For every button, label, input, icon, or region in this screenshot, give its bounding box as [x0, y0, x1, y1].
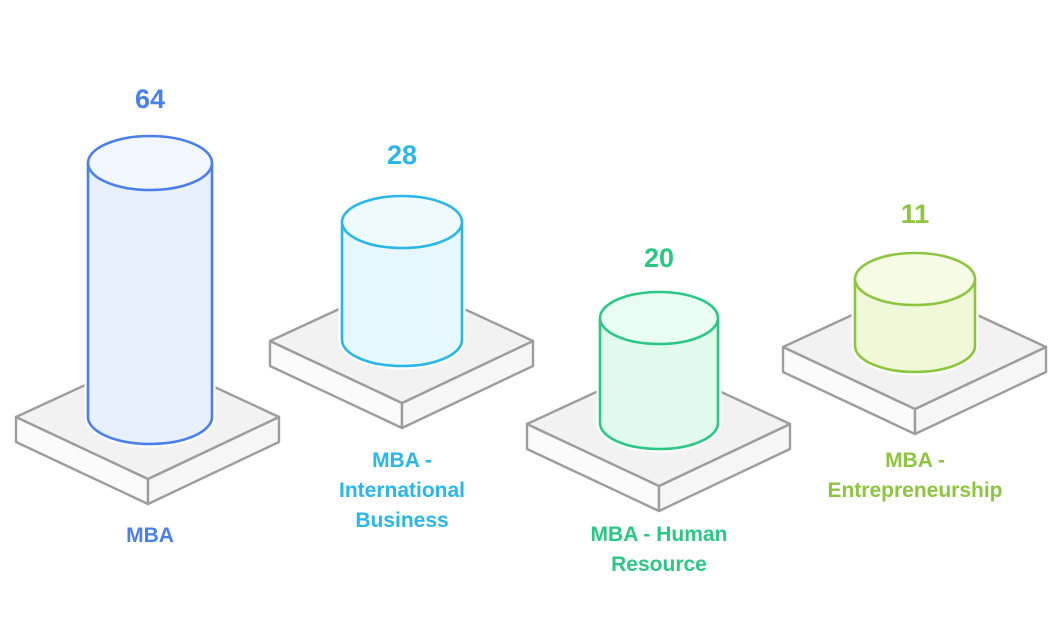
bar-label-line-2-1: Resource: [611, 553, 707, 576]
bar-label-line-1-2: Business: [355, 509, 448, 532]
bar-value-1: 28: [387, 140, 417, 170]
bar-label-line-2-0: MBA - Human: [591, 523, 728, 546]
chart-bar-group-0[interactable]: 64 MBA: [16, 84, 279, 547]
chart-bar-group-3[interactable]: 11 MBA - Entrepreneurship: [783, 199, 1046, 502]
cylinder-top-3: [855, 253, 975, 305]
cylinder-top-0: [88, 136, 212, 190]
cylinder-0[interactable]: [88, 136, 212, 444]
bar-label-line-0-0: MBA: [126, 524, 174, 547]
bar-label-line-1-0: MBA -: [372, 449, 432, 472]
chart-bar-group-1[interactable]: 28 MBA - International Business: [270, 140, 533, 532]
bar-label-0: MBA: [126, 524, 174, 547]
bar-label-3: MBA - Entrepreneurship: [827, 449, 1002, 502]
chart-bar-group-2[interactable]: 20 MBA - Human Resource: [527, 243, 790, 576]
bar-label-line-3-1: Entrepreneurship: [827, 479, 1002, 502]
bar-value-3: 11: [901, 199, 930, 229]
cylinder-2[interactable]: [600, 292, 718, 449]
cylinder-1[interactable]: [342, 196, 462, 366]
bar-value-2: 20: [644, 243, 674, 273]
cylinder-top-1: [342, 196, 462, 248]
cylinder-top-2: [600, 292, 718, 344]
cylinder-3[interactable]: [855, 253, 975, 372]
bar-label-line-3-0: MBA -: [885, 449, 945, 472]
bar-label-line-1-1: International: [339, 479, 465, 502]
cylinder-chart: 64 MBA 28 MBA - International: [0, 0, 1064, 626]
cylinder-chart-canvas: 64 MBA 28 MBA - International: [0, 0, 1064, 626]
bar-label-2: MBA - Human Resource: [591, 523, 728, 576]
bar-label-1: MBA - International Business: [339, 449, 465, 532]
cylinder-body-0[interactable]: [88, 163, 212, 444]
bar-value-0: 64: [135, 84, 165, 114]
